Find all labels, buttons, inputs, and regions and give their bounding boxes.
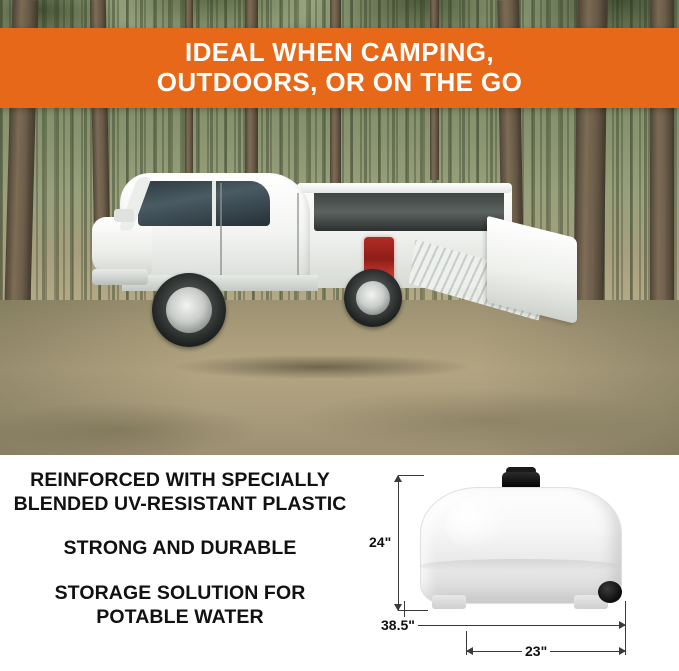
length-dimension-line xyxy=(404,625,626,626)
door-seam xyxy=(220,183,222,279)
height-tick-top xyxy=(398,475,424,476)
truck-bed-interior xyxy=(314,189,504,231)
tank-dimension-diagram: 24" 38.5" 23" xyxy=(360,455,679,671)
headline-line-2: OUTDOORS, OR ON THE GO xyxy=(157,68,523,98)
rocker-panel xyxy=(122,275,318,291)
hero-photo: IDEAL WHEN CAMPING, OUTDOORS, OR ON THE … xyxy=(0,0,679,455)
width-tick-right xyxy=(625,627,626,655)
truck-shadow xyxy=(112,350,532,384)
headline-line-1: IDEAL WHEN CAMPING, xyxy=(185,38,494,68)
tank-outlet-valve xyxy=(598,581,622,603)
bed-seam xyxy=(297,193,299,279)
side-mirror xyxy=(114,209,134,222)
front-hubcap xyxy=(166,287,212,333)
headline-banner: IDEAL WHEN CAMPING, OUTDOORS, OR ON THE … xyxy=(0,28,679,108)
height-arrow-top xyxy=(394,475,402,482)
length-label: 38.5" xyxy=(378,617,418,633)
front-bumper xyxy=(92,269,148,285)
feature-item: STORAGE SOLUTION FOR POTABLE WATER xyxy=(0,582,360,630)
feature-item: REINFORCED WITH SPECIALLY BLENDED UV-RES… xyxy=(0,469,360,517)
window-divider xyxy=(212,181,216,226)
truck-bed-rail xyxy=(297,183,512,193)
tank-highlight xyxy=(446,499,508,551)
features-panel: REINFORCED WITH SPECIALLY BLENDED UV-RES… xyxy=(0,455,679,671)
height-dimension-line xyxy=(398,475,399,611)
tank-ridge xyxy=(420,559,620,573)
feature-text: BLENDED UV-RESISTANT PLASTIC xyxy=(0,493,360,517)
feature-list: REINFORCED WITH SPECIALLY BLENDED UV-RES… xyxy=(0,469,360,650)
tank-body xyxy=(420,487,622,604)
width-arrow-left xyxy=(466,647,473,655)
width-label: 23" xyxy=(522,643,550,659)
height-tick-bottom xyxy=(398,610,428,611)
product-infographic: IDEAL WHEN CAMPING, OUTDOORS, OR ON THE … xyxy=(0,0,679,671)
length-tick-right xyxy=(625,601,626,627)
width-tick-left xyxy=(466,631,467,655)
pickup-truck xyxy=(92,165,562,400)
feature-text: STORAGE SOLUTION FOR xyxy=(0,582,360,606)
feature-text: REINFORCED WITH SPECIALLY xyxy=(0,469,360,493)
feature-item: STRONG AND DURABLE xyxy=(0,537,360,561)
cab-window xyxy=(138,181,270,226)
feature-text: STRONG AND DURABLE xyxy=(0,537,360,561)
tank-foot xyxy=(432,595,466,609)
height-label: 24" xyxy=(366,534,394,550)
rear-hubcap xyxy=(356,281,390,315)
feature-text: POTABLE WATER xyxy=(0,606,360,630)
